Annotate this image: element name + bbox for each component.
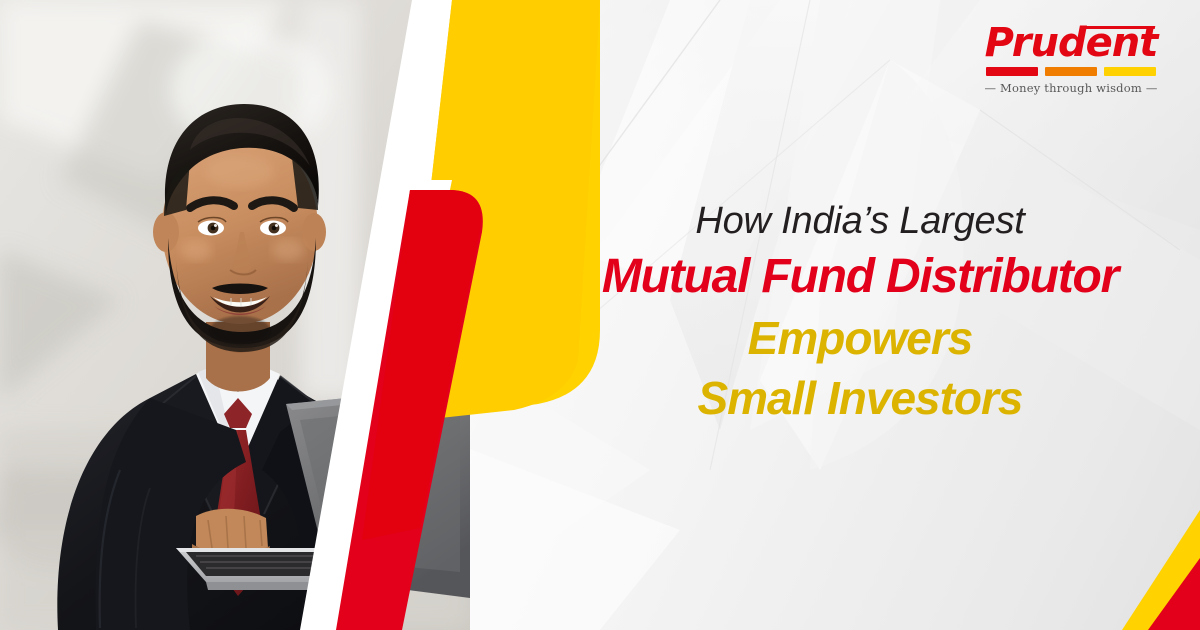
logo-bar-red <box>986 67 1038 76</box>
logo-wordmark: Prudent <box>985 22 1158 64</box>
logo-overline-accent <box>1081 26 1156 29</box>
prudent-logo[interactable]: Prudent — Money through wisdom — <box>978 22 1164 95</box>
headline-line-4: Small Investors <box>540 368 1180 428</box>
headline-line-1: How India’s Largest <box>540 198 1180 244</box>
headline-block: How India’s Largest Mutual Fund Distribu… <box>540 198 1180 428</box>
headline-line-3: Empowers <box>540 308 1180 368</box>
logo-bar-orange <box>1045 67 1097 76</box>
logo-tagline: — Money through wisdom — <box>978 81 1164 95</box>
corner-accent-wedge <box>1070 510 1200 630</box>
logo-bar-yellow <box>1104 67 1156 76</box>
promo-banner: Prudent — Money through wisdom — How Ind… <box>0 0 1200 630</box>
headline-line-2: Mutual Fund Distributor <box>540 246 1180 308</box>
logo-color-bars <box>978 67 1164 76</box>
